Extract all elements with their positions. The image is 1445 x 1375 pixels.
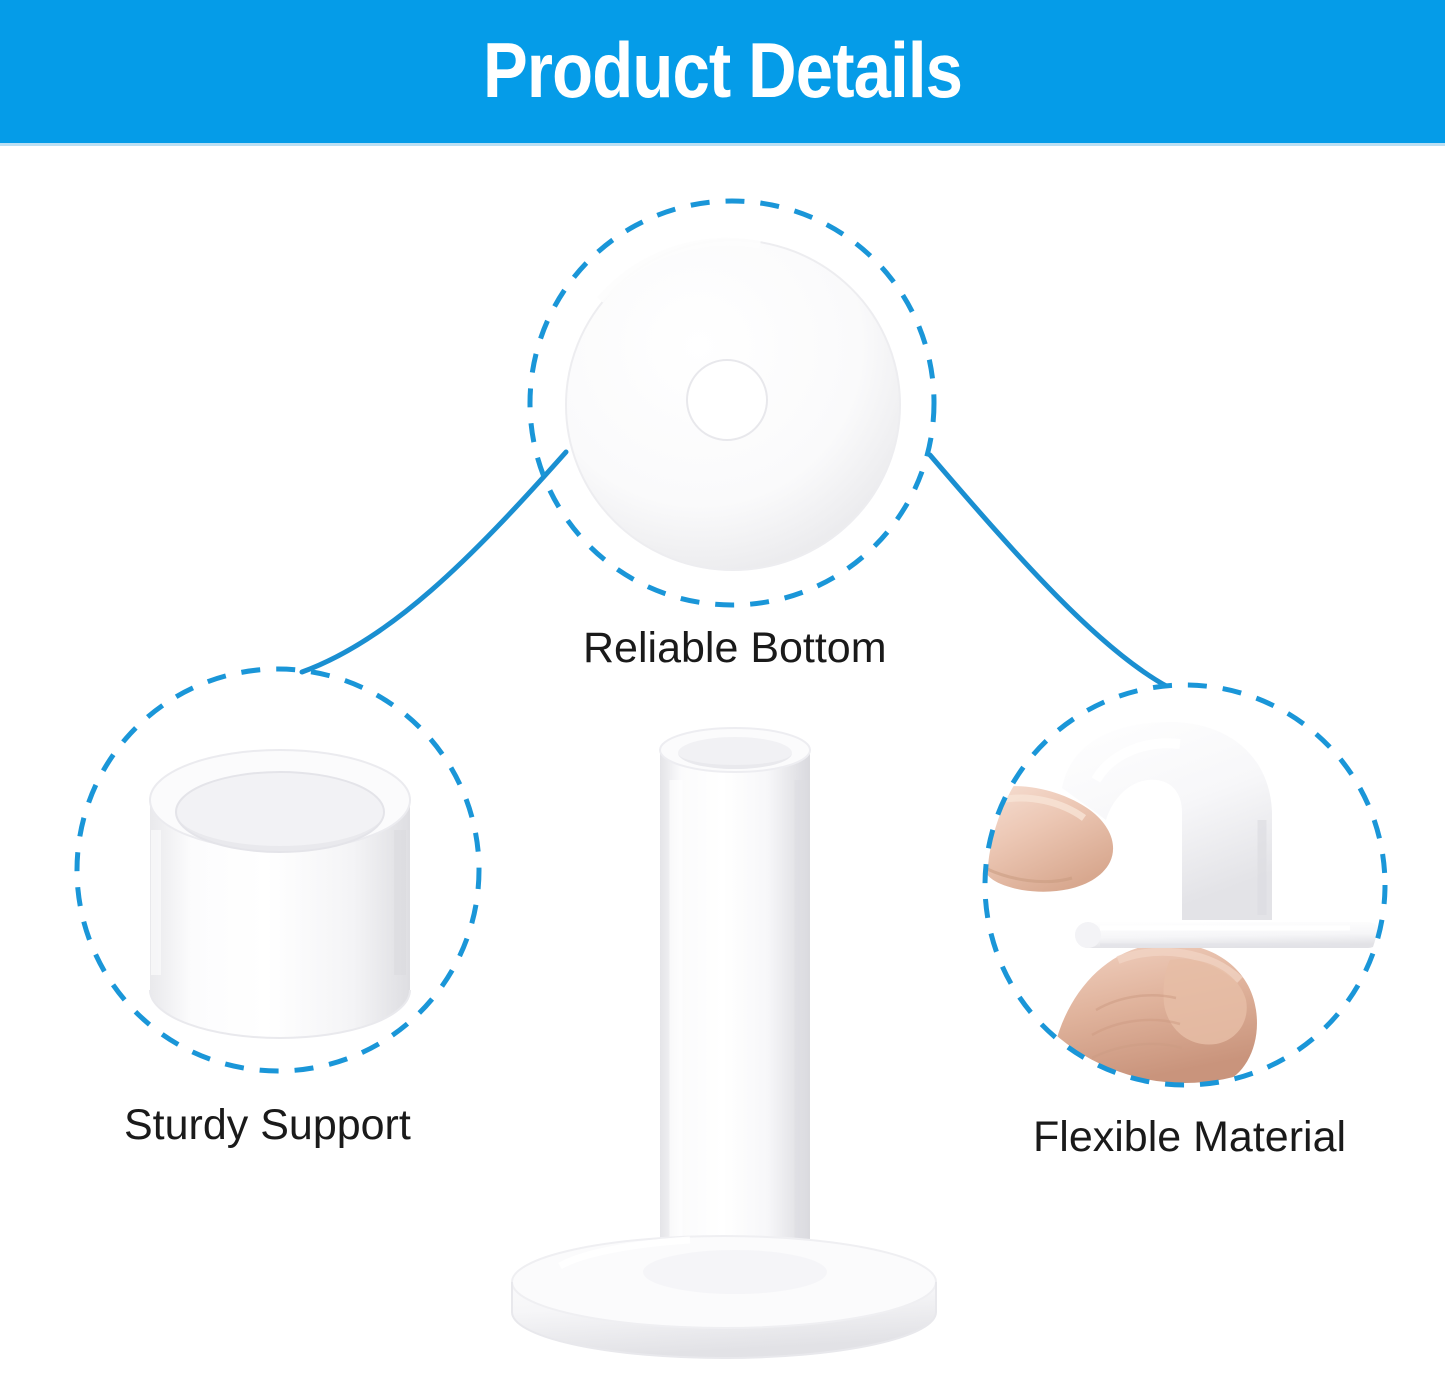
header-underline-divider: [0, 143, 1445, 146]
reliable-bottom-product-image: [566, 240, 900, 570]
product-details-page: Product Details: [0, 0, 1445, 1375]
dashed-circle-icon-right: [985, 685, 1385, 1085]
dashed-circle-icon-left: [77, 669, 479, 1071]
page-title: Product Details: [483, 31, 962, 109]
flexible-material-product-image: [985, 685, 1385, 1085]
callout-label-flexible-material: Flexible Material: [1033, 1116, 1346, 1159]
header-banner: Product Details: [0, 0, 1445, 143]
callout-label-reliable-bottom: Reliable Bottom: [583, 627, 887, 670]
sturdy-support-product-image: [150, 750, 410, 1038]
infographic-art-layer: [0, 0, 1445, 1375]
connector-arc-right: [930, 455, 1168, 687]
connector-arc-left: [302, 452, 566, 672]
main-product-image: [512, 728, 936, 1358]
callout-label-sturdy-support: Sturdy Support: [124, 1104, 411, 1147]
dashed-circle-icon-top: [530, 201, 934, 605]
